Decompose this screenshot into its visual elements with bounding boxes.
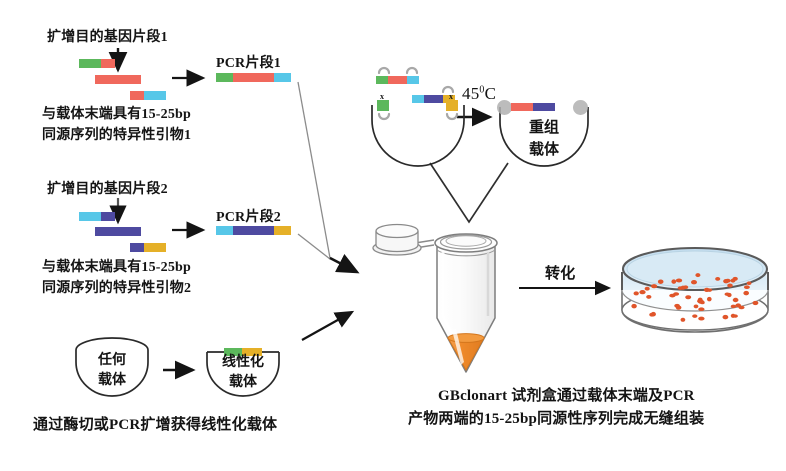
footer-line2: 产物两端的15-25bp同源性序列完成无缝组装 <box>408 407 704 428</box>
footer-line1: GBclonart 试剂盒通过载体末端及PCR <box>438 384 695 405</box>
crossover-mark-left: x <box>380 92 384 101</box>
recombinant-insert <box>511 103 555 111</box>
junction-blob-right <box>573 100 588 115</box>
transformation-label: 转化 <box>545 262 575 283</box>
crossover-mark-right: x <box>449 92 453 101</box>
recombinant-vector-label-line2: 载体 <box>500 142 588 159</box>
incubation-temperature: 450C <box>462 84 496 104</box>
recombinant-vector-label-line1: 重组 <box>500 120 588 137</box>
figure-canvas: 扩增目的基因片段1 PCR片段1 与载体末端具有15-25bp 同源序列的特异性… <box>0 0 786 471</box>
junction-blob-left <box>497 100 512 115</box>
temperature-value: 45 <box>462 84 479 103</box>
temperature-scale: C <box>485 84 497 103</box>
